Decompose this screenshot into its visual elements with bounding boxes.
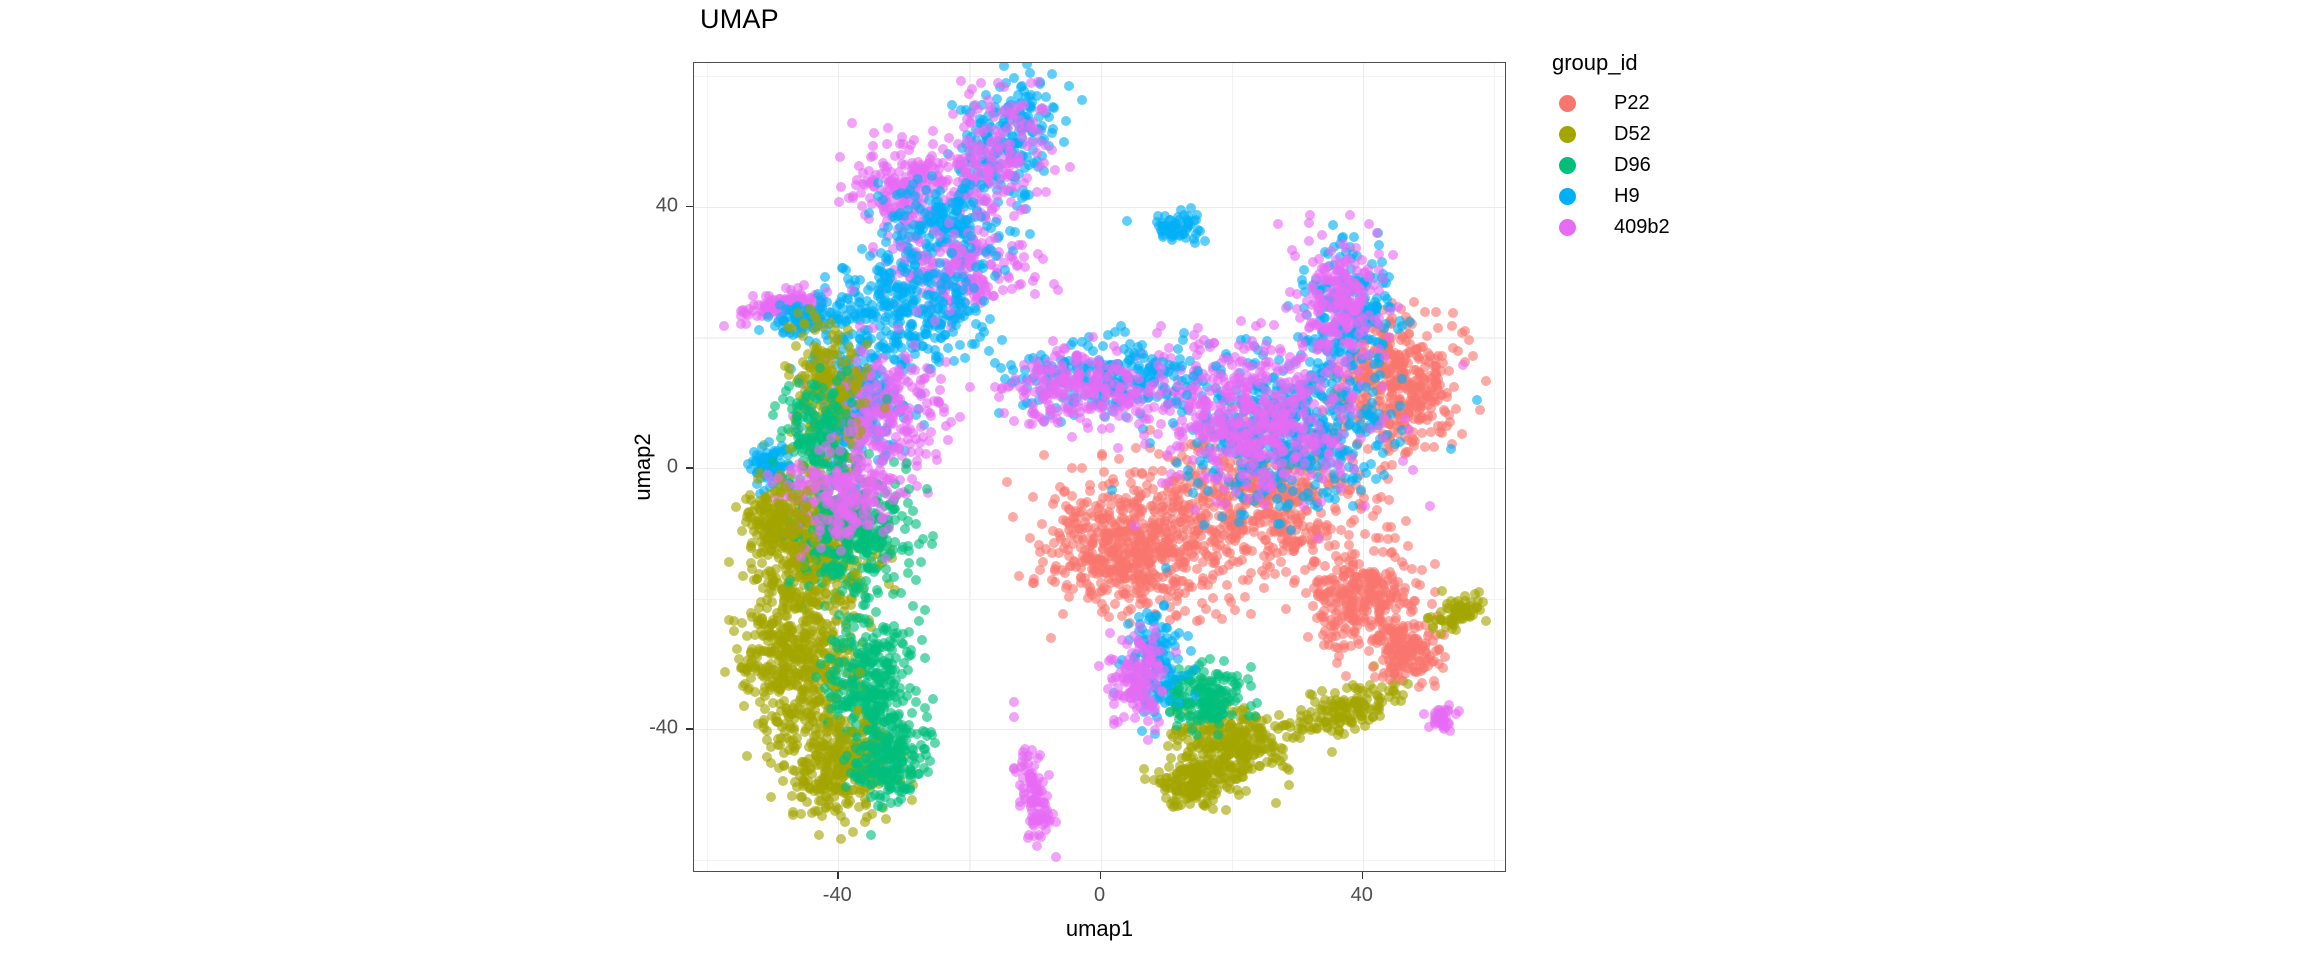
x-tick-label: -40: [823, 884, 852, 907]
legend-item-label: D96: [1614, 154, 1651, 177]
legend-item-label: H9: [1614, 185, 1640, 208]
x-tick-mark: [1362, 872, 1364, 879]
legend-key-dot-icon: [1550, 181, 1584, 212]
legend-item-p22[interactable]: P22: [1550, 88, 1850, 119]
legend-item-409b2[interactable]: 409b2: [1550, 212, 1850, 243]
y-tick-mark: [686, 728, 693, 730]
legend-items: P22D52D96H9409b2: [1550, 88, 1850, 243]
plot-panel: [693, 62, 1506, 872]
legend-key-dot-icon: [1550, 88, 1584, 119]
x-tick-label: 40: [1351, 884, 1373, 907]
y-tick-label: 0: [618, 456, 678, 479]
x-tick-label: 0: [1094, 884, 1105, 907]
y-tick-label: 40: [618, 194, 678, 217]
x-tick-mark: [837, 872, 839, 879]
legend-item-label: P22: [1614, 92, 1650, 115]
y-tick-mark: [686, 467, 693, 469]
legend: group_id P22D52D96H9409b2: [1550, 50, 1850, 243]
legend-item-label: 409b2: [1614, 216, 1670, 239]
legend-item-d96[interactable]: D96: [1550, 150, 1850, 181]
page-title: UMAP: [700, 4, 779, 35]
y-tick-label: -40: [618, 717, 678, 740]
x-tick-mark: [1100, 872, 1102, 879]
x-axis-label: umap1: [693, 916, 1506, 942]
y-tick-mark: [686, 206, 693, 208]
legend-item-d52[interactable]: D52: [1550, 119, 1850, 150]
legend-key-dot-icon: [1550, 150, 1584, 181]
scatter-points: [694, 63, 1505, 871]
legend-item-h9[interactable]: H9: [1550, 181, 1850, 212]
umap-figure: UMAP umap1 umap2 group_id P22D52D96H9409…: [0, 0, 2304, 960]
legend-title: group_id: [1552, 50, 1850, 76]
legend-key-dot-icon: [1550, 212, 1584, 243]
legend-key-dot-icon: [1550, 119, 1584, 150]
legend-item-label: D52: [1614, 123, 1651, 146]
